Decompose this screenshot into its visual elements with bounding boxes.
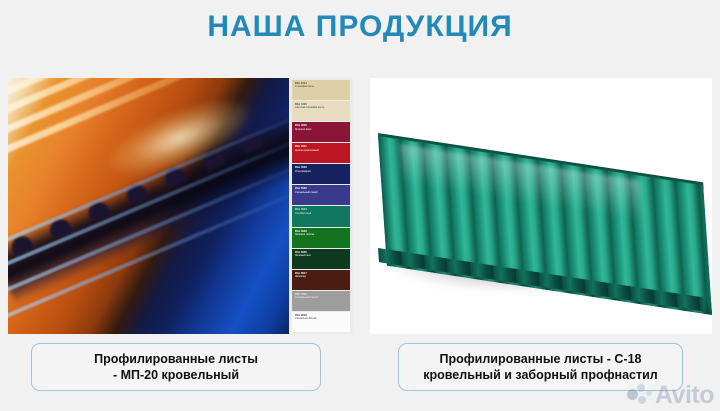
ral-swatch[interactable]: RAL 3005Красное вино	[292, 122, 350, 142]
ral-swatch-name: Сигнальный серый	[295, 296, 347, 299]
product-caption-mp-20[interactable]: Профилированные листы - МП-20 кровельный	[31, 343, 321, 391]
ral-swatch[interactable]: RAL 9003Сигнально-белый	[292, 312, 350, 332]
ral-swatch[interactable]: RAL 1014Слоновая кость	[292, 80, 350, 100]
ral-color-chart[interactable]: RAL 1014Слоновая костьRAL 1015Светлая сл…	[289, 78, 353, 334]
ral-swatch[interactable]: RAL 5021Голубая вода	[292, 206, 350, 226]
ral-swatch[interactable]: RAL 3011Красно-коричневый	[292, 143, 350, 163]
product-caption-text: Профилированные листы - МП-20 кровельный	[94, 351, 258, 383]
photo-profiled-sheets-orange-blue: RAL 1014Слоновая костьRAL 1015Светлая сл…	[8, 78, 353, 334]
ral-swatch-name: Красное вино	[295, 128, 347, 131]
ral-swatch-name: Шоколад	[295, 275, 347, 278]
ral-swatch[interactable]: RAL 1015Светлая слоновая кость	[292, 101, 350, 121]
ral-swatch-name: Ультрамарин	[295, 170, 347, 173]
product-image-mp-20[interactable]: RAL 1014Слоновая костьRAL 1015Светлая сл…	[8, 78, 353, 334]
ral-swatch[interactable]: RAL 5002Ультрамарин	[292, 164, 350, 184]
sheet-rib	[8, 78, 289, 91]
product-showcase-page: { "header": { "title": "НАША ПРОДУКЦИЯ",…	[0, 0, 720, 411]
ral-swatch[interactable]: RAL 5005Сигнальный синий	[292, 185, 350, 205]
photo-corrugated-sheet-green	[370, 78, 712, 334]
ral-swatch[interactable]: RAL 7004Сигнальный серый	[292, 291, 350, 311]
ral-swatch[interactable]: RAL 6005Зелёный мох	[292, 249, 350, 269]
ral-swatch-name: Красно-коричневый	[295, 149, 347, 152]
ral-swatch-name: Голубая вода	[295, 212, 347, 215]
ral-swatch-name: Светлая слоновая кость	[295, 106, 347, 109]
product-image-s-18[interactable]	[370, 78, 712, 334]
product-caption-s-18[interactable]: Профилированные листы - С-18 кровельный …	[398, 343, 683, 391]
ral-swatch[interactable]: RAL 6002Зелёная листва	[292, 228, 350, 248]
sheet-rib	[8, 78, 289, 107]
metal-sheet-graphic	[8, 78, 289, 334]
ral-swatch-name: Сигнальный синий	[295, 191, 347, 194]
page-title: НАША ПРОДУКЦИЯ	[0, 9, 720, 45]
ral-swatch-name: Зелёный мох	[295, 254, 347, 257]
product-caption-text: Профилированные листы - С-18 кровельный …	[423, 351, 658, 383]
ral-swatch-name: Слоновая кость	[295, 85, 347, 88]
ral-swatch-name: Сигнально-белый	[295, 317, 347, 320]
ral-swatch[interactable]: RAL 8017Шоколад	[292, 270, 350, 290]
ral-swatch-name: Зелёная листва	[295, 233, 347, 236]
